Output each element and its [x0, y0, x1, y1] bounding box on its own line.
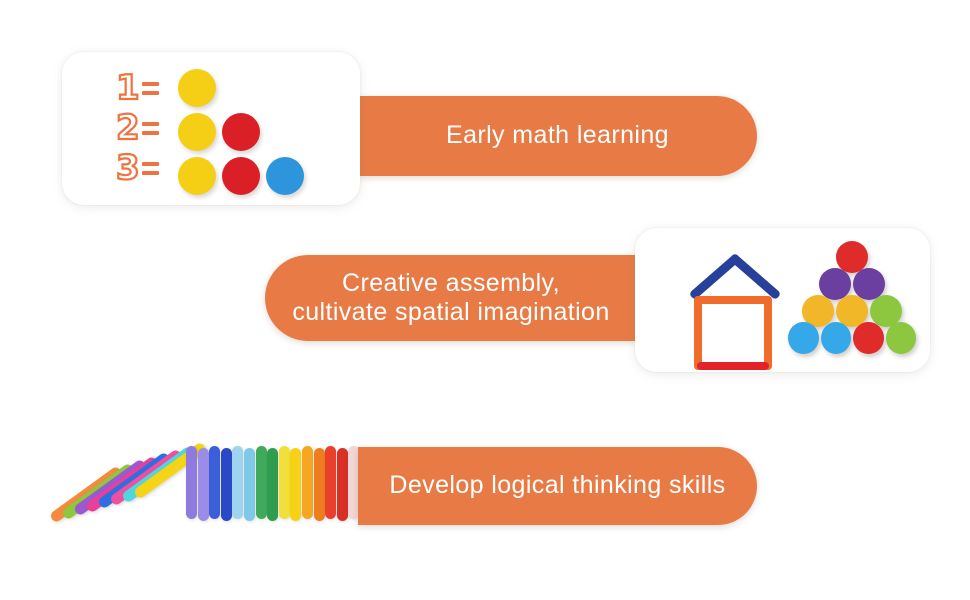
counting-dot [222, 157, 260, 195]
counting-dot [178, 157, 216, 195]
counting-illustration-card: 1 2 3 [62, 52, 360, 205]
feature-banner-text: Creative assembly, cultivate spatial ima… [292, 269, 609, 327]
pyramid-ball [886, 322, 917, 354]
counting-stick [198, 448, 209, 521]
counting-dot [222, 113, 260, 151]
rainbow-stick-bundle [186, 446, 364, 522]
wall-stick-left [694, 296, 702, 370]
numeral-column: 1 2 3 [116, 68, 178, 188]
counting-stick [209, 446, 220, 519]
numeral-label-1: 1 [116, 68, 139, 108]
equals-icon [142, 122, 159, 135]
counting-stick [337, 448, 348, 521]
numeral-row-3: 3 [116, 148, 178, 188]
feature-banner-logical-thinking: Develop logical thinking skills [358, 447, 757, 525]
feature-banner-text: Develop logical thinking skills [389, 471, 725, 501]
feature-banner-early-math: Early math learning [358, 96, 757, 176]
counting-dot [178, 113, 216, 151]
counting-stick [290, 448, 301, 521]
pyramid-ball [853, 322, 884, 354]
wall-stick-right [764, 296, 772, 370]
pyramid-ball [821, 322, 852, 354]
wall-stick-top [694, 296, 772, 304]
numeral-row-2: 2 [116, 108, 178, 148]
ball-pyramid-figure [787, 246, 917, 356]
numeral-label-3: 3 [116, 148, 139, 188]
dot-row [178, 110, 310, 154]
counting-stick [267, 448, 278, 521]
base-stick-bottom [697, 362, 769, 370]
dot-row [178, 154, 310, 198]
counting-stick [244, 448, 255, 521]
feature-highlight-board: Early math learning 1 2 3 [0, 0, 970, 600]
equals-icon [142, 82, 159, 95]
counting-stick [314, 448, 325, 521]
counting-stick [302, 446, 313, 519]
dot-row [178, 66, 310, 110]
pyramid-ball [788, 322, 819, 354]
stick-fan-group [58, 445, 188, 515]
numeral-row-1: 1 [116, 68, 178, 108]
counting-dot-grid [178, 66, 310, 198]
roof-stick-right [729, 253, 782, 300]
counting-stick [186, 446, 197, 519]
counting-dot [178, 69, 216, 107]
counting-stick [279, 446, 290, 519]
counting-stick [221, 448, 232, 521]
counting-stick [256, 446, 267, 519]
feature-banner-text: Early math learning [446, 121, 669, 151]
equals-icon [142, 162, 159, 175]
assembly-illustration-card [635, 228, 930, 372]
counting-stick [232, 446, 243, 519]
counting-stick [325, 446, 336, 519]
numeral-label-2: 2 [116, 108, 139, 148]
feature-banner-creative-assembly: Creative assembly, cultivate spatial ima… [265, 255, 637, 341]
stick-house-figure [687, 246, 783, 354]
counting-dot [266, 157, 304, 195]
